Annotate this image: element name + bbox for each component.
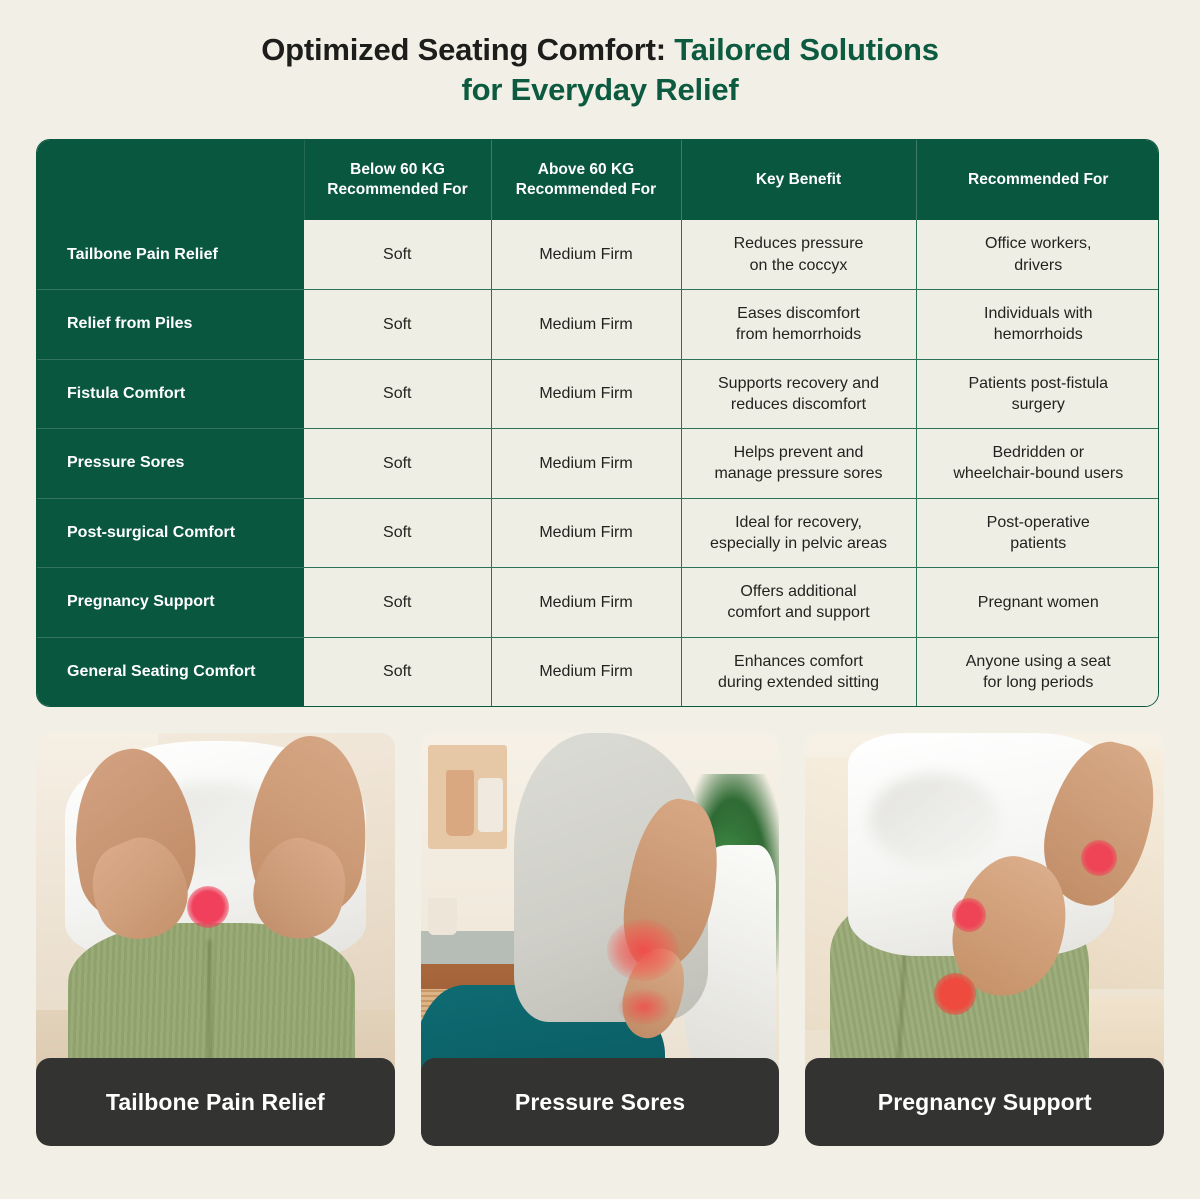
cell-above-60kg: Medium Firm	[491, 568, 681, 638]
cell-key-benefit: Reduces pressure on the coccyx	[681, 220, 916, 290]
cell-above-60kg: Medium Firm	[491, 637, 681, 707]
recommended-line-1: Office workers,	[925, 233, 1153, 254]
cell-key-benefit: Supports recovery and reduces discomfort	[681, 359, 916, 429]
gallery-card-pregnancy-support[interactable]: Pregnancy Support	[805, 733, 1164, 1146]
page-title-green-part: Tailored Solutions	[674, 32, 939, 67]
table-header-cell-key-benefit: Key Benefit	[681, 140, 916, 220]
recommended-line-2: wheelchair-bound users	[925, 463, 1153, 484]
recommended-line-2: patients	[925, 533, 1153, 554]
header-line-2: Recommended For	[500, 180, 673, 200]
benefit-line-1: Enhances comfort	[690, 651, 908, 672]
header-line-1: Above 60 KG	[500, 160, 673, 180]
table-header: Below 60 KG Recommended For Above 60 KG …	[37, 140, 1159, 220]
table-header-cell-below-60kg: Below 60 KG Recommended For	[304, 140, 491, 220]
page-title-dark-part: Optimized Seating Comfort:	[261, 32, 674, 67]
row-label: Relief from Piles	[37, 290, 304, 360]
infographic-page: Optimized Seating Comfort: Tailored Solu…	[0, 0, 1200, 1199]
benefit-line-1: Eases discomfort	[690, 303, 908, 324]
cell-above-60kg: Medium Firm	[491, 359, 681, 429]
cell-above-60kg: Medium Firm	[491, 498, 681, 568]
recommended-line-2: surgery	[925, 394, 1153, 415]
table-row: Pregnancy Support Soft Medium Firm Offer…	[37, 568, 1159, 638]
table-body: Tailbone Pain Relief Soft Medium Firm Re…	[37, 220, 1159, 707]
cell-below-60kg: Soft	[304, 220, 491, 290]
table-row: Fistula Comfort Soft Medium Firm Support…	[37, 359, 1159, 429]
cell-below-60kg: Soft	[304, 359, 491, 429]
benefit-line-2: comfort and support	[690, 602, 908, 623]
table-row: Tailbone Pain Relief Soft Medium Firm Re…	[37, 220, 1159, 290]
table-header-cell-above-60kg: Above 60 KG Recommended For	[491, 140, 681, 220]
table-row: Relief from Piles Soft Medium Firm Eases…	[37, 290, 1159, 360]
benefit-line-2: from hemorrhoids	[690, 324, 908, 345]
cell-below-60kg: Soft	[304, 290, 491, 360]
row-label: Tailbone Pain Relief	[37, 220, 304, 290]
cell-below-60kg: Soft	[304, 429, 491, 499]
page-title: Optimized Seating Comfort: Tailored Solu…	[0, 30, 1200, 109]
recommended-line-1: Patients post-fistula	[925, 373, 1153, 394]
recommended-line-1: Post-operative	[925, 512, 1153, 533]
cell-key-benefit: Helps prevent and manage pressure sores	[681, 429, 916, 499]
cell-recommended-for: Patients post-fistula surgery	[916, 359, 1159, 429]
table-header-cell-blank	[37, 140, 304, 220]
cell-recommended-for: Anyone using a seat for long periods	[916, 637, 1159, 707]
cell-key-benefit: Enhances comfort during extended sitting	[681, 637, 916, 707]
gallery-caption: Tailbone Pain Relief	[36, 1058, 395, 1146]
benefit-line-1: Reduces pressure	[690, 233, 908, 254]
pain-marker-icon	[618, 989, 670, 1025]
cell-above-60kg: Medium Firm	[491, 220, 681, 290]
gallery-caption: Pressure Sores	[421, 1058, 780, 1146]
row-label: General Seating Comfort	[37, 637, 304, 707]
cell-recommended-for: Bedridden or wheelchair-bound users	[916, 429, 1159, 499]
cell-key-benefit: Offers additional comfort and support	[681, 568, 916, 638]
row-label: Pressure Sores	[37, 429, 304, 499]
table-header-row: Below 60 KG Recommended For Above 60 KG …	[37, 140, 1159, 220]
benefit-line-1: Ideal for recovery,	[690, 512, 908, 533]
row-label: Fistula Comfort	[37, 359, 304, 429]
benefit-line-1: Supports recovery and	[690, 373, 908, 394]
cell-below-60kg: Soft	[304, 637, 491, 707]
cell-recommended-for: Individuals with hemorrhoids	[916, 290, 1159, 360]
cell-key-benefit: Eases discomfort from hemorrhoids	[681, 290, 916, 360]
cell-above-60kg: Medium Firm	[491, 290, 681, 360]
photo-gallery: Tailbone Pain Relief	[36, 733, 1164, 1146]
header-line-1: Below 60 KG	[313, 160, 483, 180]
page-title-line-1: Optimized Seating Comfort: Tailored Solu…	[0, 30, 1200, 70]
pain-marker-icon	[187, 886, 229, 928]
row-label: Pregnancy Support	[37, 568, 304, 638]
gallery-caption: Pregnancy Support	[805, 1058, 1164, 1146]
recommended-line-2: hemorrhoids	[925, 324, 1153, 345]
cell-recommended-for: Pregnant women	[916, 568, 1159, 638]
recommended-line-2: drivers	[925, 255, 1153, 276]
recommended-line-1: Individuals with	[925, 303, 1153, 324]
page-title-line-2: for Everyday Relief	[0, 70, 1200, 110]
benefit-line-2: manage pressure sores	[690, 463, 908, 484]
cell-below-60kg: Soft	[304, 498, 491, 568]
table-row: Pressure Sores Soft Medium Firm Helps pr…	[37, 429, 1159, 499]
recommended-line-2: for long periods	[925, 672, 1153, 693]
gallery-card-pressure-sores[interactable]: Pressure Sores	[421, 733, 780, 1146]
cell-key-benefit: Ideal for recovery, especially in pelvic…	[681, 498, 916, 568]
benefit-line-2: especially in pelvic areas	[690, 533, 908, 554]
table-row: General Seating Comfort Soft Medium Firm…	[37, 637, 1159, 707]
benefit-line-2: during extended sitting	[690, 672, 908, 693]
comfort-comparison-table: Below 60 KG Recommended For Above 60 KG …	[36, 139, 1159, 707]
pain-marker-icon	[934, 973, 976, 1015]
table-row: Post-surgical Comfort Soft Medium Firm I…	[37, 498, 1159, 568]
benefit-line-1: Offers additional	[690, 581, 908, 602]
header-line-2: Recommended For	[313, 180, 483, 200]
recommended-line-1: Bedridden or	[925, 442, 1153, 463]
recommended-line-1: Anyone using a seat	[925, 651, 1153, 672]
header-line-1: Key Benefit	[690, 170, 908, 190]
recommended-line-1: Pregnant women	[925, 592, 1153, 613]
pain-marker-icon	[607, 919, 679, 981]
cell-above-60kg: Medium Firm	[491, 429, 681, 499]
header-line-1: Recommended For	[925, 170, 1153, 190]
benefit-line-2: reduces discomfort	[690, 394, 908, 415]
gallery-card-tailbone-pain-relief[interactable]: Tailbone Pain Relief	[36, 733, 395, 1146]
benefit-line-2: on the coccyx	[690, 255, 908, 276]
row-label: Post-surgical Comfort	[37, 498, 304, 568]
cell-recommended-for: Office workers, drivers	[916, 220, 1159, 290]
benefit-line-1: Helps prevent and	[690, 442, 908, 463]
cell-recommended-for: Post-operative patients	[916, 498, 1159, 568]
table-header-cell-recommended-for: Recommended For	[916, 140, 1159, 220]
cell-below-60kg: Soft	[304, 568, 491, 638]
